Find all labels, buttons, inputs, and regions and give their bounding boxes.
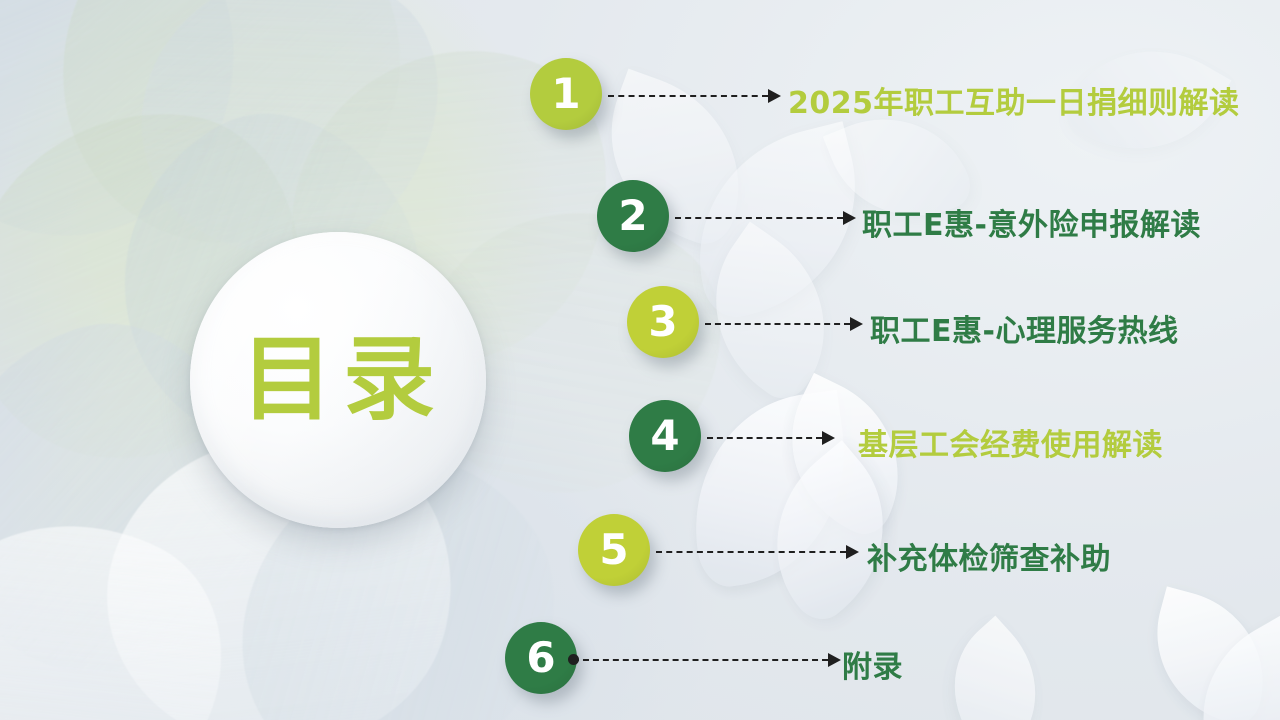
agenda-connector-line-6 — [573, 659, 828, 661]
page-title: 目录 — [231, 334, 445, 426]
agenda-connector-line-1 — [608, 95, 768, 97]
agenda-number-circle-5[interactable]: 5 — [578, 514, 650, 586]
agenda-connector-arrow-icon-2 — [843, 211, 856, 225]
agenda-connector-line-5 — [656, 551, 846, 553]
agenda-connector-arrow-icon-6 — [828, 653, 841, 667]
title-disc: 目录 — [190, 232, 486, 528]
agenda-item-label-2[interactable]: 职工E惠-意外险申报解读 — [862, 200, 1201, 244]
slide-root: 目录 12025年职工互助一日捐细则解读2职工E惠-意外险申报解读3职工E惠-心… — [0, 0, 1280, 720]
agenda-connector-arrow-icon-5 — [846, 545, 859, 559]
agenda-connector-arrow-icon-1 — [768, 89, 781, 103]
agenda-number-circle-4[interactable]: 4 — [629, 400, 701, 472]
agenda-connector-arrow-icon-3 — [850, 317, 863, 331]
agenda-number-circle-6[interactable]: 6 — [505, 622, 577, 694]
agenda-number-circle-2[interactable]: 2 — [597, 180, 669, 252]
agenda-item-label-4[interactable]: 基层工会经费使用解读 — [858, 420, 1163, 464]
agenda-number-circle-3[interactable]: 3 — [627, 286, 699, 358]
agenda-item-label-3[interactable]: 职工E惠-心理服务热线 — [870, 306, 1178, 350]
agenda-number-circle-1[interactable]: 1 — [530, 58, 602, 130]
agenda-connector-line-4 — [707, 437, 822, 439]
agenda-item-label-6[interactable]: 附录 — [842, 642, 903, 686]
agenda-connector-line-2 — [675, 217, 843, 219]
agenda-item-label-1[interactable]: 2025年职工互助一日捐细则解读 — [788, 78, 1240, 122]
agenda-item-label-5[interactable]: 补充体检筛查补助 — [867, 534, 1111, 578]
agenda-connector-arrow-icon-4 — [822, 431, 835, 445]
agenda-connector-line-3 — [705, 323, 850, 325]
